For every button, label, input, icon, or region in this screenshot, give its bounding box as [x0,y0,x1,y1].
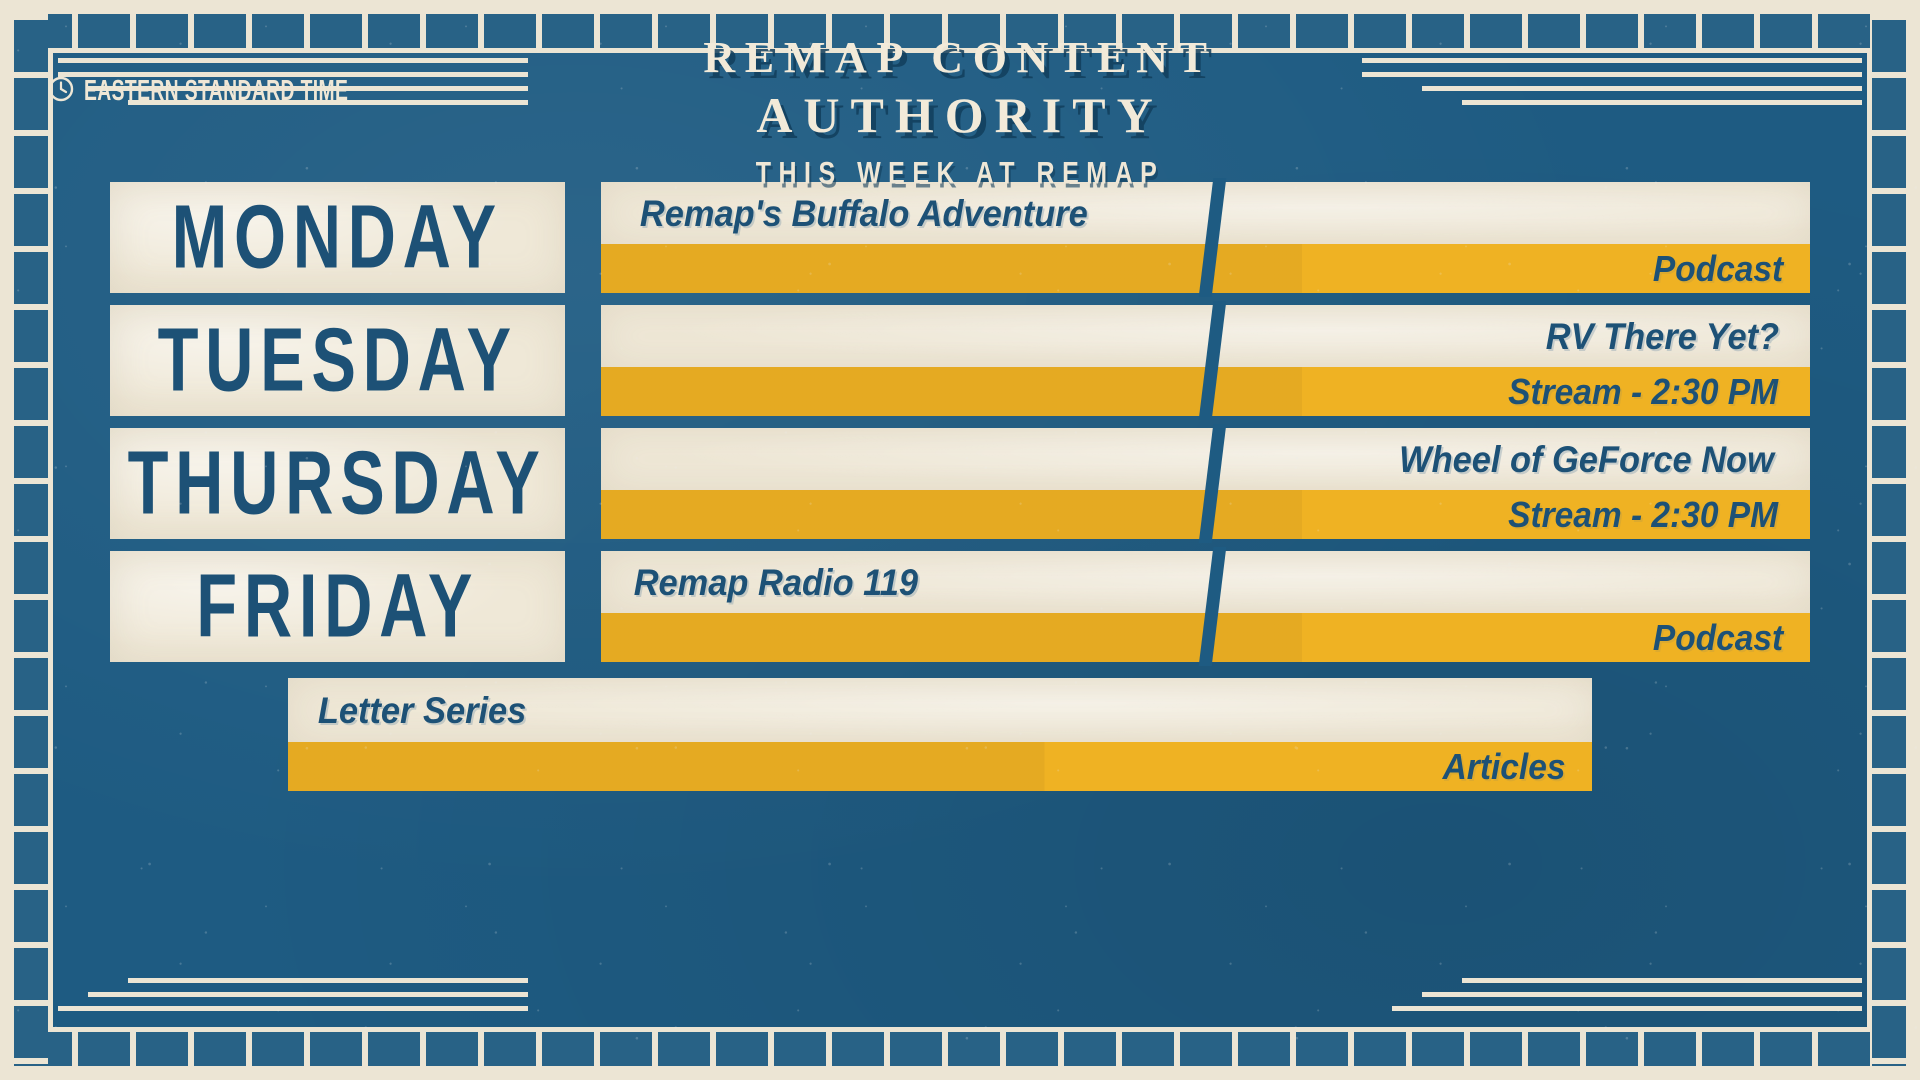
feature-entry[interactable]: Letter Series Articles [288,678,1592,791]
entry-category: Stream - 2:30 PM [1508,374,1778,410]
day-label: THURSDAY [128,439,547,529]
schedule-row: THURSDAY Wheel of GeForce Now Stream - 2… [110,428,1810,539]
clock-icon [48,76,74,107]
entry-category: Podcast [1653,251,1783,287]
schedule-list: MONDAY Remap's Buffalo Adventure Podcast… [110,182,1810,674]
row-gap [565,551,601,662]
feature-title: Letter Series [318,692,526,729]
day-plate: THURSDAY [110,428,565,539]
day-plate: FRIDAY [110,551,565,662]
page-subtitle: THIS WEEK AT REMAP [0,156,1920,192]
entry-title: Wheel of GeForce Now [1399,441,1774,478]
schedule-entry[interactable]: Wheel of GeForce Now Stream - 2:30 PM [601,428,1810,539]
feature-category-panel: Articles [288,742,1592,791]
timezone-badge: EASTERN STANDARD TIME [48,76,371,107]
schedule-entry[interactable]: Remap's Buffalo Adventure Podcast [601,182,1810,293]
schedule-row: MONDAY Remap's Buffalo Adventure Podcast [110,182,1810,293]
border-dashes-bottom [14,1032,1906,1066]
day-label: TUESDAY [157,316,517,406]
day-label: MONDAY [172,193,503,283]
row-gap [565,428,601,539]
feature-title-panel: Letter Series [288,678,1592,742]
entry-title: Remap Radio 119 [634,564,918,601]
page-title-line-1: REMAP CONTENT [0,36,1920,80]
row-gap [565,182,601,293]
schedule-row: TUESDAY RV There Yet? Stream - 2:30 PM [110,305,1810,416]
entry-category: Stream - 2:30 PM [1508,497,1778,533]
corner-stripes-bottom-right [1392,978,1862,1020]
entry-category: Podcast [1653,620,1783,656]
feature-category: Articles [1443,749,1566,785]
entry-title: RV There Yet? [1546,318,1779,355]
day-label: FRIDAY [196,562,479,652]
schedule-entry[interactable]: Remap Radio 119 Podcast [601,551,1810,662]
entry-title: Remap's Buffalo Adventure [640,195,1088,232]
timezone-label: EASTERN STANDARD TIME [84,75,348,107]
day-plate: TUESDAY [110,305,565,416]
corner-stripes-bottom-left [58,978,528,1020]
schedule-entry[interactable]: RV There Yet? Stream - 2:30 PM [601,305,1810,416]
schedule-row: FRIDAY Remap Radio 119 Podcast [110,551,1810,662]
poster-canvas: EASTERN STANDARD TIME REMAP CONTENT AUTH… [0,0,1920,1080]
day-plate: MONDAY [110,182,565,293]
row-gap [565,305,601,416]
poster-header: REMAP CONTENT AUTHORITY THIS WEEK AT REM… [0,36,1920,185]
